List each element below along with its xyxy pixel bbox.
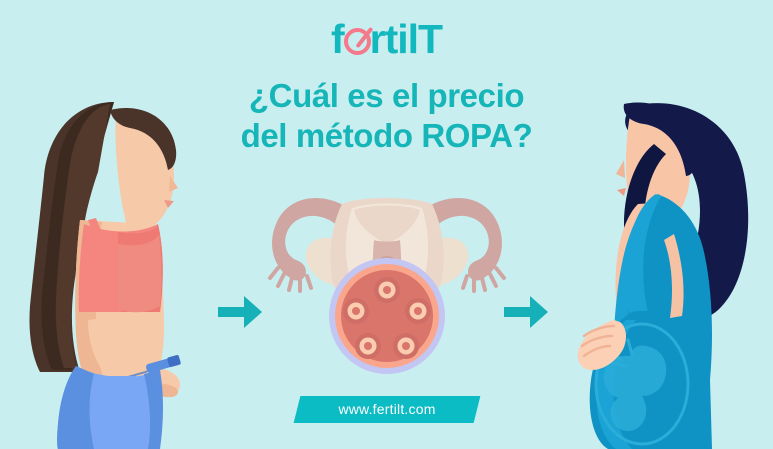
logo-suffix-text: rtilT	[370, 16, 442, 62]
arrow-right-icon-right	[504, 292, 548, 332]
illustration-uterus-with-embryos	[262, 186, 512, 376]
brand-logo-wordmark: frtilT	[331, 16, 442, 62]
brand-logo: frtilT	[0, 16, 773, 62]
logo-prefix-text: f	[331, 16, 344, 62]
arrow-right-icon-left	[218, 292, 262, 332]
illustration-pregnant-woman	[562, 84, 773, 449]
website-url-banner[interactable]: www.fertilt.com	[294, 396, 481, 423]
circled-e-icon	[344, 28, 370, 54]
illustration-woman-self-injecting	[18, 84, 218, 449]
website-url-text: www.fertilt.com	[297, 396, 477, 423]
infographic-canvas: frtilT ¿Cuál es el precio del método ROP…	[0, 0, 773, 449]
